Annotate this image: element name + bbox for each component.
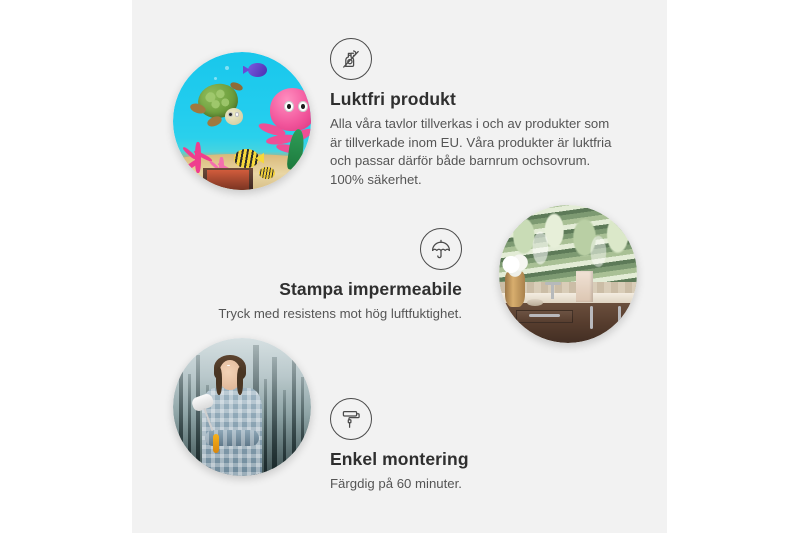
turtle-eye [229, 113, 232, 116]
rolled-towel [576, 271, 593, 301]
drawer-handle [529, 314, 559, 317]
purple-fish-icon [248, 63, 267, 77]
hair-strand [216, 367, 223, 395]
feature-odourless: Luktfri produkt Alla våra tavlor tillver… [330, 38, 618, 190]
feature-title: Enkel montering [330, 449, 560, 470]
turtle-eye [236, 113, 239, 116]
octopus-eye [298, 101, 308, 112]
product-features-infographic: Luktfri produkt Alla våra tavlor tillver… [0, 0, 800, 533]
hair-strand [237, 367, 244, 395]
white-flowers [500, 252, 529, 277]
feature-waterproof: Stampa impermeabile Tryck med resistens … [200, 228, 462, 324]
smile [227, 365, 230, 366]
sea-turtle-icon [192, 80, 253, 135]
feature-assembly: Enkel montering Färgdig på 60 minuter. [330, 398, 560, 494]
wooden-vanity-cabinet [499, 303, 637, 343]
paint-roller-icon [330, 398, 372, 440]
small-fish-icon [259, 167, 276, 179]
angelfish-icon [234, 149, 259, 168]
octopus-head [270, 88, 311, 131]
feature-description: Alla våra tavlor tillverkas i och av pro… [330, 115, 618, 190]
bathroom-photo-inner [499, 205, 637, 343]
umbrella-icon [420, 228, 462, 270]
bathroom-botanical-wallpaper-photo [499, 205, 637, 343]
decorator-photo-inner [173, 338, 311, 476]
no-fragrance-spray-icon [330, 38, 372, 80]
cabinet-handle [618, 306, 621, 329]
decorator-woman-forest-wallpaper-photo [173, 338, 311, 476]
octopus-eye [284, 101, 294, 112]
woman-figure [198, 360, 273, 476]
feature-title: Luktfri produkt [330, 89, 618, 110]
underwater-kids-mural-photo-inner [173, 52, 311, 190]
soap-dish [527, 299, 544, 306]
cabinet-handle [590, 306, 593, 329]
turtle-head [225, 108, 243, 125]
feature-description: Tryck med resistens mot hög luftfuktighe… [200, 305, 462, 324]
feature-description: Färgdig på 60 minuter. [330, 475, 560, 494]
underwater-kids-mural-photo [173, 52, 311, 190]
faucet-icon [551, 282, 554, 299]
feature-title: Stampa impermeabile [200, 279, 462, 300]
yellow-tool-handle [213, 434, 220, 453]
framed-print-edge [203, 168, 253, 190]
